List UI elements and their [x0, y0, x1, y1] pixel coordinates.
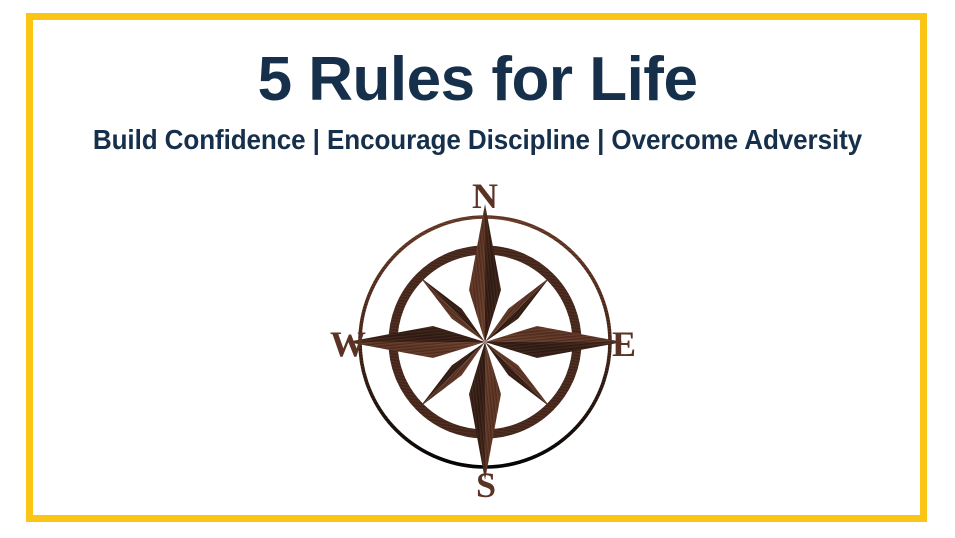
compass-label-south: S: [476, 465, 496, 502]
page-title: 5 Rules for Life: [0, 49, 955, 111]
compass-point-east: [485, 326, 623, 358]
compass-point-west: [347, 326, 485, 358]
slide-canvas: 5 Rules for Life Build Confidence | Enco…: [0, 0, 955, 538]
compass-label-west: W: [330, 324, 366, 364]
compass-label-east: E: [612, 324, 636, 364]
page-subtitle: Build Confidence | Encourage Discipline …: [33, 126, 921, 154]
compass-point-north: [469, 204, 501, 342]
compass-label-north: N: [472, 182, 498, 216]
compass-point-south: [469, 342, 501, 480]
compass-cardinal-points: [347, 204, 623, 480]
compass-rose-image: N E S W: [325, 182, 645, 502]
